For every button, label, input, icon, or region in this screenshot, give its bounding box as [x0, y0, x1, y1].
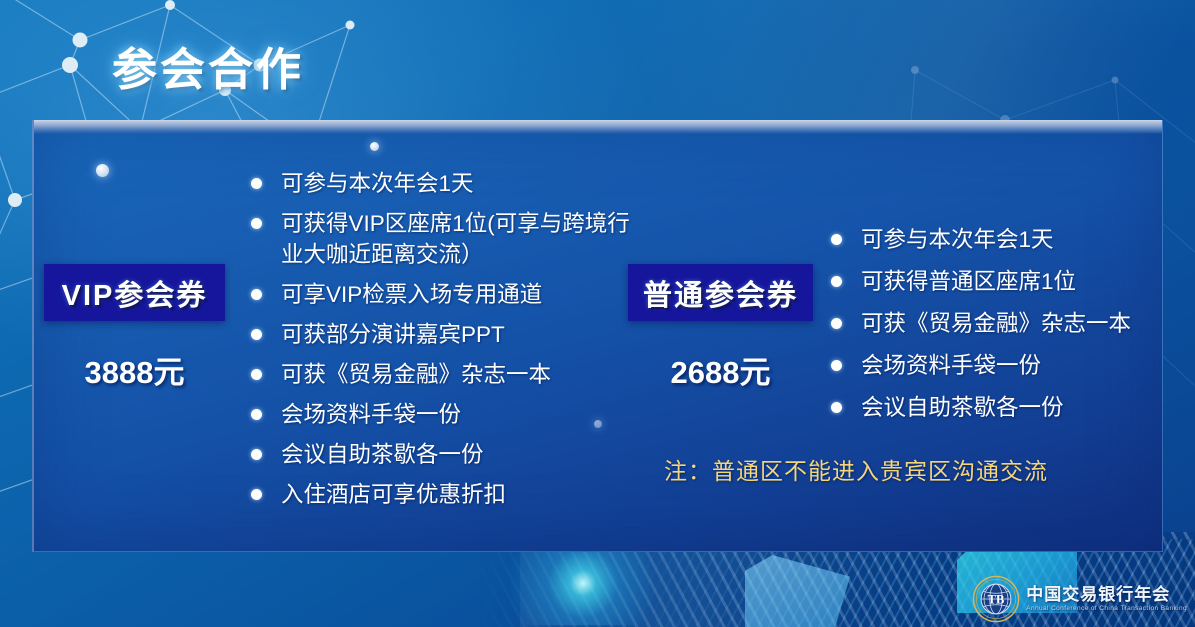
list-item: 会议自助茶歇各一份 [248, 439, 648, 470]
vip-ticket-badge: VIP参会券 [44, 264, 225, 321]
vip-benefits-list: 可参与本次年会1天 可获得VIP区座席1位(可享与跨境行业大咖近距离交流） 可享… [248, 168, 648, 519]
list-item: 会议自助茶歇各一份 [828, 392, 1168, 423]
standard-ticket-price: 2688元 [628, 347, 813, 392]
panel-top-edge [34, 120, 1162, 134]
standard-benefits-list: 可参与本次年会1天 可获得普通区座席1位 可获《贸易金融》杂志一本 会场资料手袋… [828, 224, 1168, 434]
logo-monogram: TB [988, 592, 1005, 606]
list-item: 可获《贸易金融》杂志一本 [248, 359, 648, 390]
logo-wordmark: 中国交易银行年会 Annual Conference of China Tran… [1026, 586, 1187, 613]
panel-node-dot [370, 142, 379, 151]
vip-ticket-price: 3888元 [44, 347, 225, 392]
panel-node-dot [96, 164, 109, 177]
standard-ticket-badge: 普通参会券 [628, 264, 813, 321]
list-item: 可参与本次年会1天 [248, 168, 648, 199]
conference-logo: TB 中国交易银行年会 Annual Conference of China T… [972, 575, 1187, 623]
slide-root: 参会合作 VIP参会券 3888元 可参与本次年会1天 可获得VIP区座席1位(… [0, 0, 1195, 627]
list-item: 可享VIP检票入场专用通道 [248, 279, 648, 310]
list-item: 可获部分演讲嘉宾PPT [248, 319, 648, 350]
page-title: 参会合作 [112, 33, 304, 98]
globe-emblem-icon: TB [972, 575, 1020, 623]
light-shard [745, 555, 850, 627]
logo-name-cn: 中国交易银行年会 [1026, 586, 1187, 603]
list-item: 可参与本次年会1天 [828, 224, 1168, 255]
list-item: 可获得VIP区座席1位(可享与跨境行业大咖近距离交流） [248, 208, 648, 270]
list-item: 入住酒店可享优惠折扣 [248, 479, 648, 510]
list-item: 可获《贸易金融》杂志一本 [828, 308, 1168, 339]
list-item: 可获得普通区座席1位 [828, 266, 1168, 297]
vip-ticket-badge-label: VIP参会券 [62, 272, 208, 314]
list-item: 会场资料手袋一份 [828, 350, 1168, 381]
logo-name-en: Annual Conference of China Transaction B… [1026, 606, 1187, 613]
list-item: 会场资料手袋一份 [248, 399, 648, 430]
standard-ticket-badge-label: 普通参会券 [643, 272, 798, 314]
standard-ticket-note: 注：普通区不能进入贵宾区沟通交流 [664, 452, 1048, 486]
